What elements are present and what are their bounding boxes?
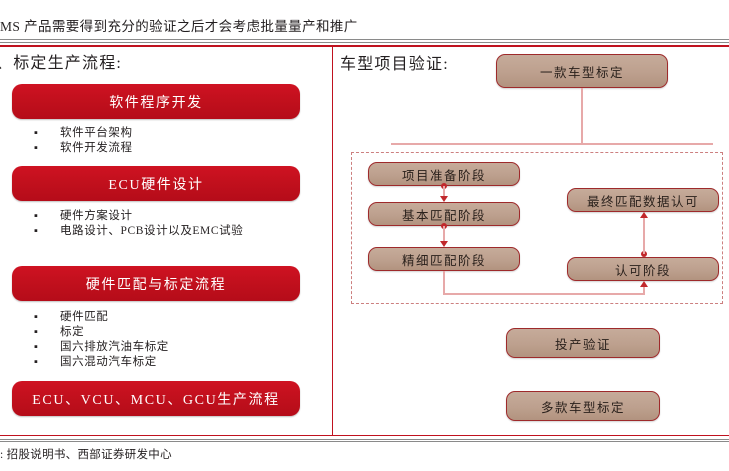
process-box-software-development[interactable]: 软件程序开发: [12, 84, 300, 119]
connector-top-horizontal: [391, 143, 713, 145]
top-rule-gray-line-1: [0, 39, 729, 40]
list-item-label: 电路设计、PCB设计以及EMC试验: [60, 224, 304, 239]
list-item-label: 软件平台架构: [60, 126, 304, 141]
list-item: ▪ 电路设计、PCB设计以及EMC试验: [34, 224, 304, 239]
list-item: ▪ 软件平台架构: [34, 126, 304, 141]
list-item-label: 国六排放汽油车标定: [60, 340, 304, 355]
arrow-up-icon: [640, 212, 648, 218]
left-panel-title: 、标定生产流程:: [0, 52, 122, 76]
list-item: ▪ 标定: [34, 325, 304, 340]
connector-loop-up: [643, 287, 645, 294]
list-item-label: 国六混动汽车标定: [60, 355, 304, 370]
list-item: ▪ 硬件匹配: [34, 310, 304, 325]
top-rule: [0, 39, 729, 46]
bottom-rule-gray-line-1: [0, 439, 729, 440]
bullet-glyph: ▪: [34, 209, 60, 224]
vertical-divider: [332, 46, 333, 435]
node-multi-model-calibration[interactable]: 多款车型标定: [506, 391, 660, 421]
connector-loop-down: [443, 271, 445, 294]
bullet-glyph: ▪: [34, 355, 60, 370]
list-item-label: 软件开发流程: [60, 141, 304, 156]
connector-top-vertical: [581, 88, 583, 144]
bullet-glyph: ▪: [34, 325, 60, 340]
connector-approval-to-final: [643, 218, 645, 254]
node-approval-stage[interactable]: 认可阶段: [567, 257, 719, 281]
node-production-verification[interactable]: 投产验证: [506, 328, 660, 358]
arrow-down-icon: [440, 241, 448, 247]
arrow-down-icon: [440, 196, 448, 202]
list-item: ▪ 软件开发流程: [34, 141, 304, 156]
bullet-glyph: ▪: [34, 310, 60, 325]
list-item-label: 标定: [60, 325, 304, 340]
process-box-production-flow[interactable]: ECU、VCU、MCU、GCU生产流程: [12, 381, 300, 416]
bullet-list-software-development: ▪ 软件平台架构 ▪ 软件开发流程: [34, 126, 304, 156]
bullet-glyph: ▪: [34, 126, 60, 141]
bottom-rule: [0, 435, 729, 443]
list-item-label: 硬件方案设计: [60, 209, 304, 224]
top-rule-gray-line-2: [0, 42, 729, 43]
list-item: ▪ 硬件方案设计: [34, 209, 304, 224]
bullet-glyph: ▪: [34, 141, 60, 156]
bullet-list-hardware-matching-calibration: ▪ 硬件匹配 ▪ 标定 ▪ 国六排放汽油车标定 ▪ 国六混动汽车标定: [34, 310, 304, 370]
right-panel-title: 车型项目验证:: [340, 53, 449, 77]
node-single-model-calibration[interactable]: 一款车型标定: [496, 54, 668, 88]
node-final-matching-data-approval[interactable]: 最终匹配数据认可: [567, 188, 719, 212]
node-fine-matching-stage[interactable]: 精细匹配阶段: [368, 247, 520, 271]
arrow-up-icon: [640, 281, 648, 287]
bullet-list-ecu-hardware-design: ▪ 硬件方案设计 ▪ 电路设计、PCB设计以及EMC试验: [34, 209, 304, 239]
connector-stage2-to-stage3: [443, 226, 445, 242]
bullet-glyph: ▪: [34, 224, 60, 239]
source-note: : 招股说明书、西部证券研发中心: [0, 447, 172, 463]
list-item-label: 硬件匹配: [60, 310, 304, 325]
process-box-ecu-hardware-design[interactable]: ECU硬件设计: [12, 166, 300, 201]
connector-loop-horizontal: [443, 293, 645, 295]
process-box-hardware-matching-calibration[interactable]: 硬件匹配与标定流程: [12, 266, 300, 301]
bottom-rule-red-line: [0, 435, 729, 436]
top-rule-red-line: [0, 45, 729, 47]
bullet-glyph: ▪: [34, 340, 60, 355]
list-item: ▪ 国六排放汽油车标定: [34, 340, 304, 355]
header-note: MS 产品需要得到充分的验证之后才会考虑批量量产和推广: [0, 16, 729, 38]
list-item: ▪ 国六混动汽车标定: [34, 355, 304, 370]
bottom-rule-gray-line-2: [0, 441, 729, 442]
